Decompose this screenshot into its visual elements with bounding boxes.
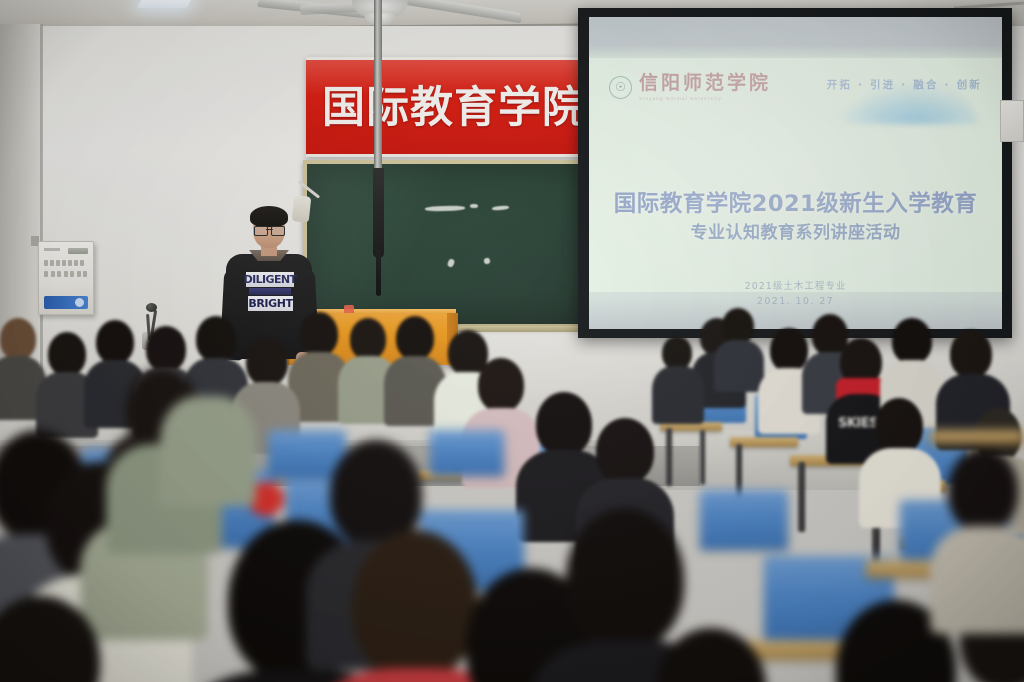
person-head (948, 448, 1018, 532)
chalk-mark (470, 204, 478, 208)
person-torso (652, 366, 704, 424)
person-head (196, 316, 236, 362)
person-head (892, 318, 932, 364)
shirt-text-line1: DILIGENT (246, 272, 294, 287)
seat (430, 430, 504, 476)
panel-button[interactable] (74, 260, 78, 266)
lecture-hall-photo: 国际教育学院2021级 ☉ 信阳师范学院 Xinyang Normal Univ… (0, 0, 1024, 682)
slide-date: 2021. 10. 27 (589, 296, 1002, 307)
slide-title: 国际教育学院2021级新生入学教育 (589, 186, 1002, 218)
panel-button[interactable] (57, 271, 61, 277)
banner-pole-lower (373, 168, 384, 258)
panel-button[interactable] (83, 271, 87, 277)
slide-tagline: 开拓 · 引进 · 融合 · 创新 (827, 77, 982, 92)
seat (700, 490, 788, 550)
panel-button[interactable] (50, 260, 54, 266)
panel-button[interactable] (44, 271, 48, 277)
seat-leg (666, 428, 672, 486)
person-head (770, 328, 808, 372)
person-head (246, 338, 288, 386)
person-head (656, 628, 766, 682)
slide-subtitle: 专业认知教育系列讲座活动 (589, 218, 1002, 243)
banner-pole-tip (376, 250, 381, 296)
blackboard-eraser (292, 195, 312, 223)
university-name-cn: 信阳师范学院 (639, 74, 771, 93)
panel-brand-badge (44, 296, 88, 309)
university-name-en: Xinyang Normal University (639, 96, 771, 101)
panel-button[interactable] (68, 260, 72, 266)
blackboard-sheen (307, 164, 587, 324)
desk-tablet (930, 430, 1024, 444)
panel-knob-icon[interactable] (75, 298, 84, 307)
podium-object (344, 305, 354, 313)
panel-button[interactable] (80, 260, 84, 266)
speaker-hair (250, 206, 288, 227)
glasses-bridge (266, 229, 273, 230)
person-head (300, 312, 338, 356)
slide-mountain-graphic (822, 96, 992, 122)
panel-button[interactable] (51, 271, 55, 277)
wall-corner-edge (40, 24, 43, 404)
person-head (0, 318, 36, 360)
panel-button[interactable] (56, 260, 60, 266)
person-head (566, 508, 684, 650)
panel-display (68, 248, 88, 254)
person-head (396, 316, 434, 360)
panel-button[interactable] (77, 271, 81, 277)
panel-button-row[interactable] (44, 260, 90, 266)
shirt-accent-bar (249, 288, 291, 295)
person-torso (930, 526, 1024, 634)
panel-button[interactable] (62, 260, 66, 266)
person-head (478, 358, 524, 412)
panel-button[interactable] (44, 260, 48, 266)
seat-leg (798, 462, 805, 532)
fluorescent-light-icon (137, 0, 193, 8)
university-logo: ☉ 信阳师范学院 Xinyang Normal University (609, 74, 771, 101)
speaker-shirt-graphic: DILIGENT BRIGHT (246, 272, 294, 312)
person-head (596, 418, 654, 484)
person-head (950, 330, 992, 378)
panel-label (44, 248, 60, 251)
shirt-text-line2: BRIGHT (248, 296, 293, 311)
person-head (96, 320, 134, 364)
slide-program: 2021级土木工程专业 (589, 278, 1002, 292)
person-head (536, 392, 592, 456)
university-seal-icon: ☉ (609, 76, 632, 99)
projection-surface: ☉ 信阳师范学院 Xinyang Normal University 开拓 · … (589, 17, 1002, 329)
microphone-icon (146, 303, 157, 312)
event-banner: 国际教育学院2021级 (306, 57, 586, 157)
person-head (146, 326, 186, 372)
person-head (350, 318, 386, 360)
banner-text: 国际教育学院2021级 (322, 76, 586, 140)
blackboard (303, 160, 591, 328)
panel-button[interactable] (64, 271, 68, 277)
projection-screen: ☉ 信阳师范学院 Xinyang Normal University 开拓 · … (578, 8, 1012, 338)
person-head (352, 530, 478, 680)
panel-button-row[interactable] (44, 271, 90, 277)
glasses-icon (254, 226, 285, 234)
slide: ☉ 信阳师范学院 Xinyang Normal University 开拓 · … (589, 58, 1002, 292)
person-head (662, 336, 692, 370)
person-head (722, 308, 754, 344)
person-head (48, 332, 86, 376)
person-torso (714, 340, 764, 392)
person-head (875, 398, 923, 454)
av-control-panel[interactable] (38, 241, 94, 315)
panel-button[interactable] (70, 271, 74, 277)
wall-notice (1000, 100, 1024, 142)
person-torso (160, 396, 256, 506)
seat-leg (700, 430, 705, 485)
jacket-text: SKIES (838, 416, 878, 431)
